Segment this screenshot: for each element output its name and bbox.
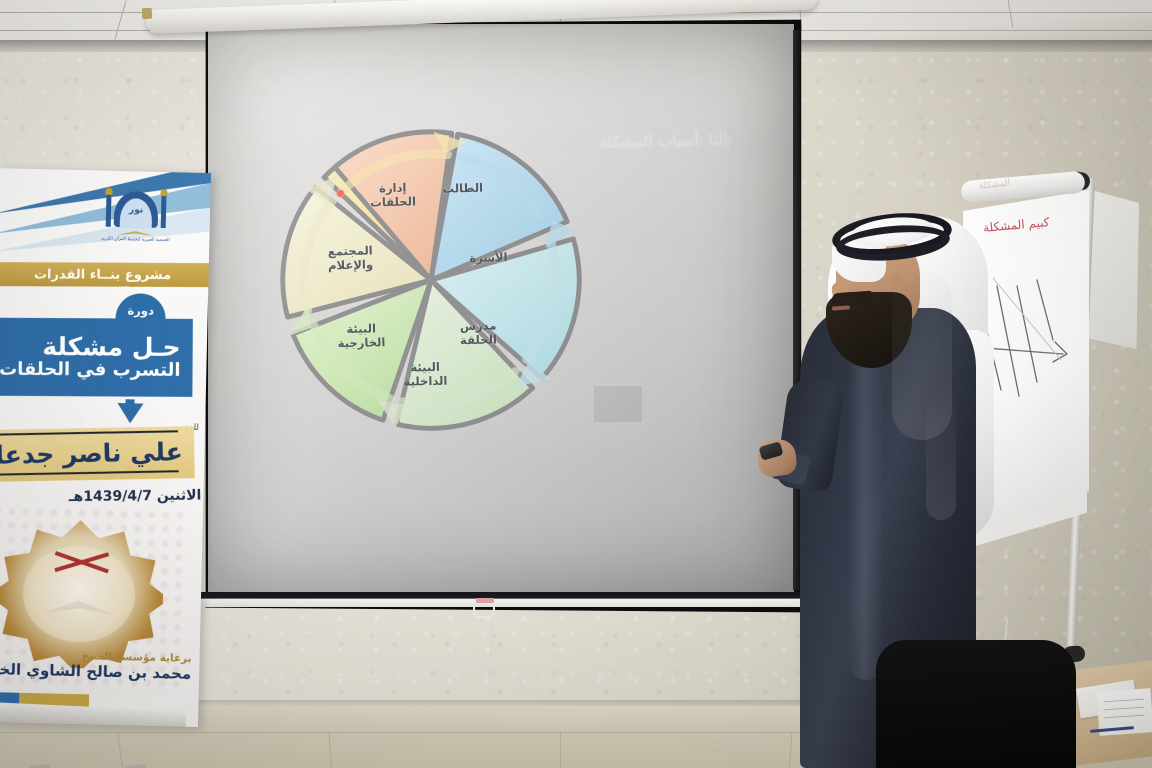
banner-course-line1: حـل مشكلة <box>42 333 181 361</box>
moustache <box>832 291 875 308</box>
banner-trainer-name-box: علي ناصر جدعان <box>0 430 179 476</box>
ghutra-fold-lower <box>926 390 956 520</box>
banner-medallion <box>0 518 165 670</box>
pie-label-circle-management: إدارة الحلقات <box>357 180 430 210</box>
screen-artifact <box>594 386 642 422</box>
screen-pull-handle[interactable] <box>473 603 495 618</box>
screen-brand-label <box>476 598 494 603</box>
pie-label-teacher: مدرس الحلقة <box>442 318 515 348</box>
photo-scene: ثالثا :أسباب المشكلة . <box>0 0 1152 768</box>
banner-course-title: حـل مشكلة التسرب في الحلقات <box>0 318 193 397</box>
banner-date: الاثنين 1439/4/7هـ <box>1 488 201 506</box>
banner-project-strip: مشروع بنــاء القدرات <box>0 262 211 287</box>
event-rollup-banner: نور الجمعية الخيرية لتحفيظ القرآن الكريم… <box>0 168 211 727</box>
projector-screen-surface: ثالثا :أسباب المشكلة . <box>208 24 794 599</box>
banner-course-line2: التسرب في الحلقات <box>0 360 181 382</box>
pie-label-external-environment: البيئة الخارجية <box>322 321 401 351</box>
screen-mount-bracket <box>142 8 152 19</box>
pie-label-internal-environment: البيئة الداخلية <box>389 359 462 389</box>
pie-label-society-media: المجتمع والإعلام <box>310 243 391 273</box>
laser-pointer-dot <box>336 189 345 198</box>
mosque-icon: نور <box>93 188 178 238</box>
slide-title: ثالثا :أسباب المشكلة . <box>589 131 733 152</box>
screen-cord-loop <box>496 680 522 698</box>
organization-logo: نور الجمعية الخيرية لتحفيظ القرآن الكريم <box>93 188 178 252</box>
banner-sponsor-block: برعاية مؤسسة الشيخ محمد بن صالح الشاوي ا… <box>0 648 196 683</box>
banner-trainer-name: علي ناصر جدعان <box>0 437 183 470</box>
down-arrow-icon <box>117 403 143 424</box>
screen-bottom-bar <box>201 592 801 607</box>
banner-badge-text: دورة <box>127 303 154 318</box>
logo-word: نور <box>124 205 148 216</box>
banner-project-text: مشروع بنــاء القدرات <box>34 267 171 283</box>
thobe-sheen <box>848 350 884 680</box>
pie-label-student: الطالب <box>427 180 499 196</box>
chair-backrest[interactable] <box>876 640 1076 768</box>
cycle-pie-diagram: الطالب الأسرة مدرس الحلقة البيئة الداخلي… <box>271 120 591 440</box>
pie-label-family: الأسرة <box>452 250 524 266</box>
logo-subtitle: الجمعية الخيرية لتحفيظ القرآن الكريم <box>93 236 177 243</box>
